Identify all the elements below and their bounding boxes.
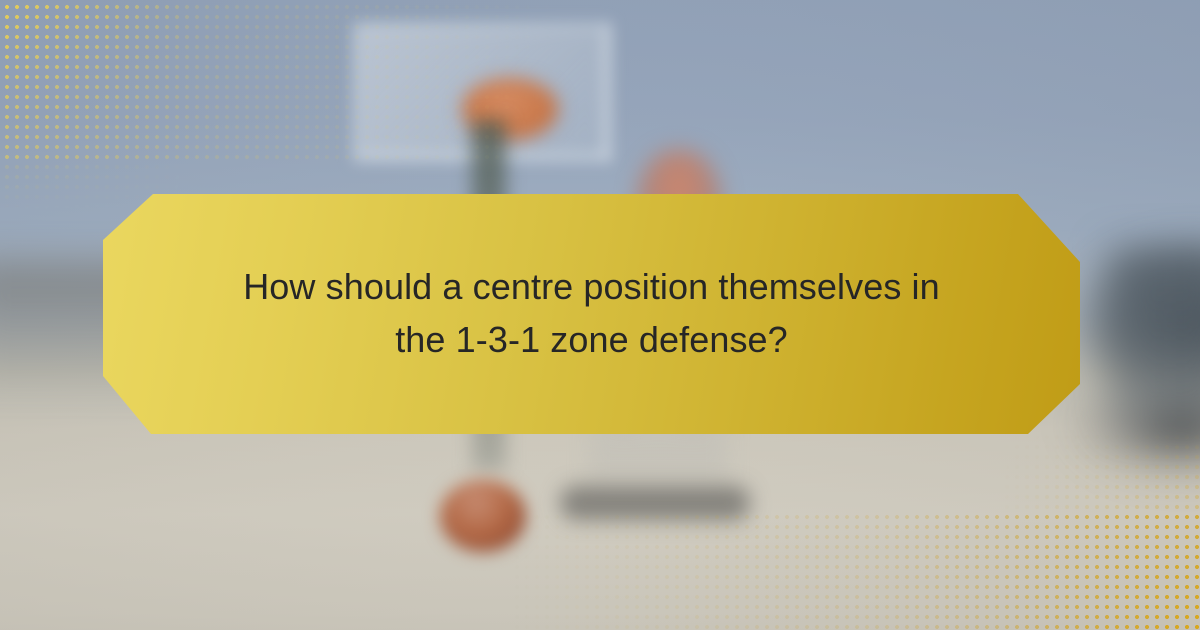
question-card: How should a centre position themselves … [0,0,1200,630]
question-text: How should a centre position themselves … [212,260,972,368]
question-line-2: the 1-3-1 zone defense? [212,313,972,366]
question-line-1: How should a centre position themselves … [212,260,972,313]
question-banner: How should a centre position themselves … [103,194,1080,434]
